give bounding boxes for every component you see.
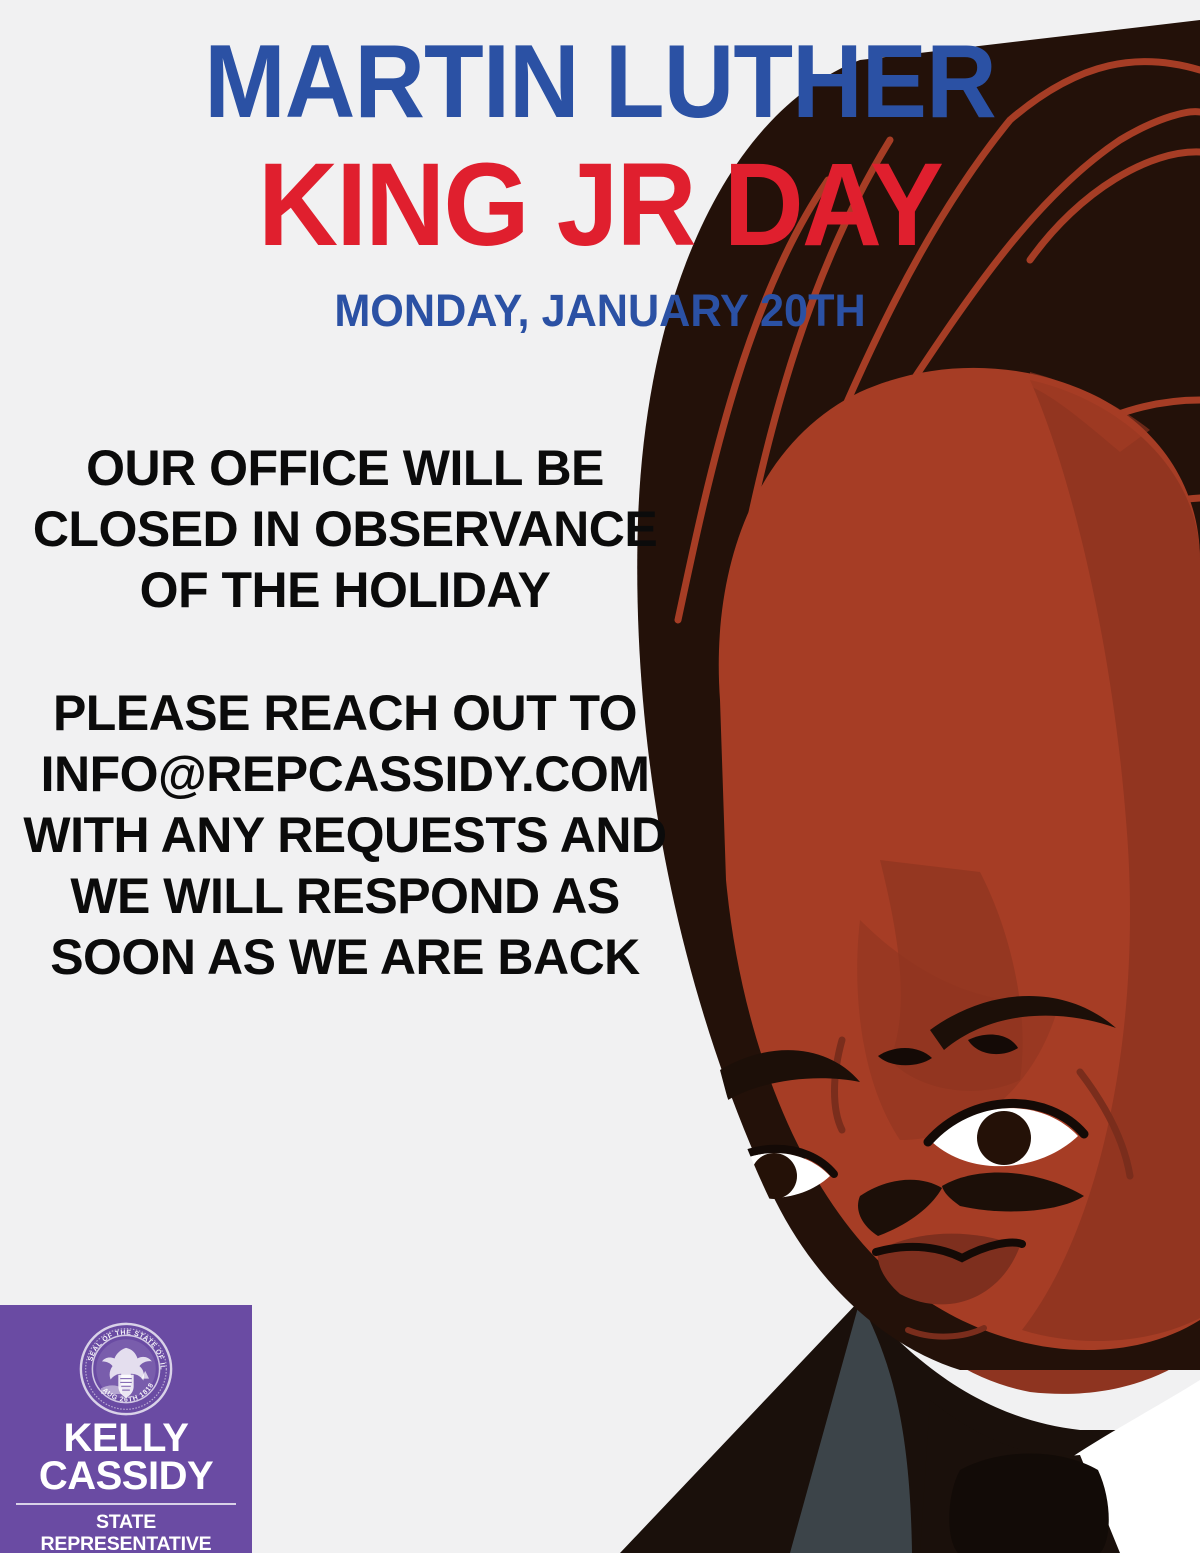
eyebrow-right — [930, 996, 1116, 1050]
title-line-2: KING JR DAY — [36, 134, 1164, 264]
body-text-block: OUR OFFICE WILL BE CLOSED IN OBSERVANCE … — [0, 438, 690, 988]
left-crease — [835, 1040, 843, 1130]
logo-divider — [16, 1503, 236, 1505]
representative-title: STATE REPRESENTATIVE 14TH DISTRICT — [10, 1511, 242, 1553]
representative-name: KELLY CASSIDY — [10, 1419, 242, 1496]
contact-instructions: PLEASE REACH OUT TO INFO@REPCASSIDY.COM … — [0, 683, 690, 988]
mouth-line — [876, 1243, 1022, 1258]
chin-crease — [908, 1328, 984, 1337]
suit-right-lapel — [920, 1400, 1120, 1553]
cheek-shadow — [857, 920, 1060, 1140]
face-side-shadow — [1022, 380, 1200, 1341]
rep-first-name: KELLY — [10, 1419, 242, 1457]
forehead-highlight — [1030, 372, 1150, 452]
rep-office-title: STATE REPRESENTATIVE — [10, 1511, 242, 1553]
event-date: MONDAY, JANUARY 20TH — [24, 264, 1176, 333]
lips — [878, 1234, 1020, 1305]
nostril-left — [878, 1048, 932, 1065]
nostril-right — [968, 1034, 1018, 1054]
face-base — [719, 368, 1200, 1350]
rep-last-name: CASSIDY — [10, 1457, 242, 1495]
eye-left — [710, 1149, 834, 1199]
headline-block: MARTIN LUTHER KING JR DAY MONDAY, JANUAR… — [0, 0, 1200, 333]
illinois-state-seal-icon: SEAL OF THE STATE OF ILLINOIS AUG 26TH 1… — [78, 1321, 174, 1417]
face — [710, 368, 1200, 1350]
necktie — [790, 1300, 912, 1553]
nose — [880, 860, 1023, 1091]
right-crease — [1080, 1072, 1130, 1176]
neck — [830, 1120, 1200, 1394]
office-closure-notice: OUR OFFICE WILL BE CLOSED IN OBSERVANCE … — [0, 438, 690, 621]
suit-left-shoulder — [620, 1300, 1200, 1553]
mlk-day-poster: MARTIN LUTHER KING JR DAY MONDAY, JANUAR… — [0, 0, 1200, 1553]
mustache-right — [942, 1173, 1084, 1212]
title-line-1: MARTIN LUTHER — [36, 0, 1164, 134]
eye-right — [928, 1103, 1084, 1166]
mustache-left — [858, 1180, 942, 1236]
kelly-cassidy-logo: SEAL OF THE STATE OF ILLINOIS AUG 26TH 1… — [0, 1305, 252, 1553]
eyebrow-left — [720, 1050, 860, 1100]
bow-tie — [949, 1454, 1109, 1553]
shirt-front — [960, 1380, 1200, 1553]
